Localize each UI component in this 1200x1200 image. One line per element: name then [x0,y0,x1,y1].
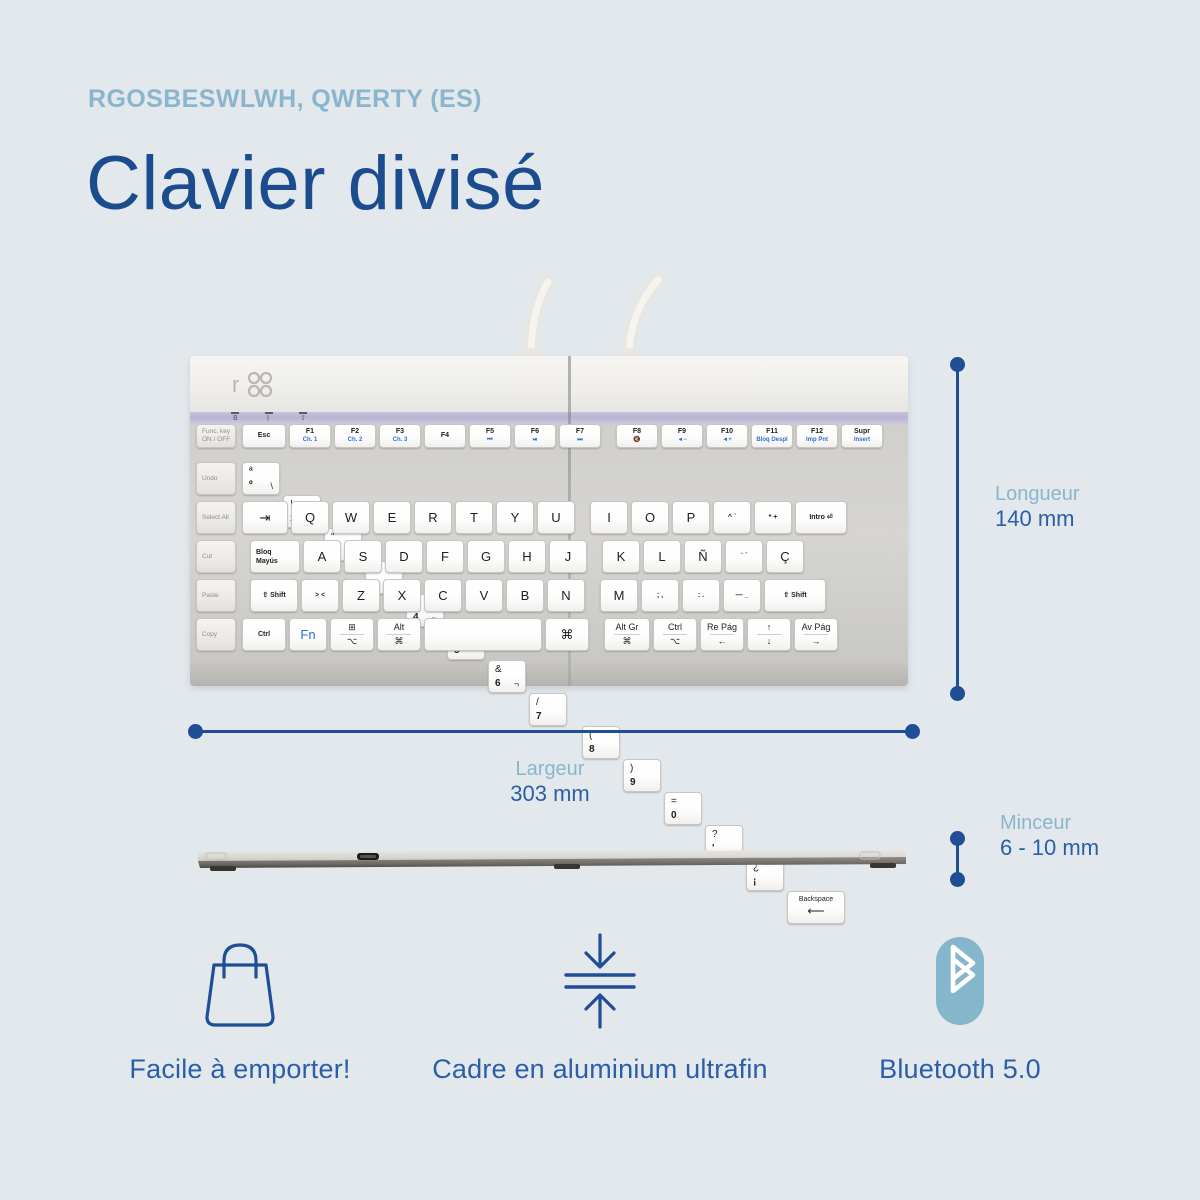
dim-line-width [194,730,912,733]
caps-lock-key[interactable]: BloqMayús [250,540,300,573]
letter-key[interactable]: A [303,540,341,573]
feature-portable-label: Facile à emporter! [129,1051,350,1087]
function-key[interactable]: F6⏯ [514,424,556,448]
feature-row: Facile à emporter! Cadre en aluminium ul… [60,925,1140,1145]
macro-key[interactable]: Cut [196,540,236,573]
letter-key[interactable]: X [383,579,421,612]
letter-key[interactable]: C [424,579,462,612]
letter-key[interactable]: U [537,501,575,534]
letter-key[interactable]: Q [291,501,329,534]
fn-key[interactable]: Fn [289,618,327,651]
feature-bluetooth: Bluetooth 5.0 [780,925,1140,1145]
ctrl-key[interactable]: Ctrl [242,618,286,651]
dim-dot-bottom [950,686,965,701]
shift-key[interactable]: ⇧ Shift [764,579,826,612]
command-key[interactable]: ⌘ [545,618,589,651]
letter-key[interactable]: J [549,540,587,573]
keyboard-top-view: r B ᛒ ⇧ Func. keyON / OFFUndoSelect AllC… [190,356,908,686]
number-key[interactable]: &6¬ [488,660,526,693]
product-sku: RGOSBESWLWH, QWERTY (ES) [88,85,482,114]
letter-key[interactable]: Ç [766,540,804,573]
space-key[interactable] [424,618,542,651]
usb-cables [0,270,1200,370]
macro-key[interactable]: Select All [196,501,236,534]
keyboard-side-view [192,838,910,874]
function-key[interactable]: F4 [424,424,466,448]
letter-key[interactable]: W [332,501,370,534]
shift-key[interactable]: ⇧ Shift [250,579,298,612]
letter-key[interactable]: R [414,501,452,534]
dim-dot-right [905,724,920,739]
width-caption: Largeur [450,758,650,781]
dim-dot-thin-bottom [950,872,965,887]
function-key[interactable]: F3Ch. 3 [379,424,421,448]
thickness-value: 6 - 10 mm [1000,835,1190,861]
letter-key[interactable]: Z [342,579,380,612]
windows-key[interactable]: ⊞⌥ [330,618,374,651]
function-key[interactable]: F11Bloq Despl [751,424,793,448]
r-go-logo: r [232,370,296,400]
function-key[interactable]: F9◄− [661,424,703,448]
length-value: 140 mm [995,506,1175,532]
letter-key[interactable]: S [344,540,382,573]
letter-key[interactable]: > < [301,579,339,612]
letter-key[interactable]: D [385,540,423,573]
ctrl-key[interactable]: Ctrl⌥ [653,618,697,651]
letter-key[interactable]: P [672,501,710,534]
letter-key[interactable]: E [373,501,411,534]
letter-key[interactable]: * + [754,501,792,534]
backspace-key[interactable]: Backspace⟵ [787,891,845,924]
letter-key[interactable]: ¨ ´ [725,540,763,573]
keyboard-top-plate [190,356,908,412]
arrow-up-key[interactable]: ↑↓ [747,618,791,651]
letter-key[interactable]: ; , [641,579,679,612]
product-infographic: RGOSBESWLWH, QWERTY (ES) Clavier divisé … [0,0,1200,1200]
function-key[interactable]: F2Ch. 2 [334,424,376,448]
letter-key[interactable]: ^ ` [713,501,751,534]
letter-key[interactable]: G [467,540,505,573]
page-down-key[interactable]: Av Pág→ [794,618,838,651]
bluetooth-icon [904,925,1016,1037]
svg-text:r: r [232,372,239,397]
number-key[interactable]: ªº\ [242,462,280,495]
feature-bluetooth-label: Bluetooth 5.0 [879,1051,1041,1087]
letter-key[interactable]: I [590,501,628,534]
letter-key[interactable]: L [643,540,681,573]
letter-key[interactable]: T [455,501,493,534]
number-key[interactable]: /7 [529,693,567,726]
feature-thin-frame-label: Cadre en aluminium ultrafin [432,1051,768,1087]
letter-key[interactable]: V [465,579,503,612]
dim-line-length [956,362,959,692]
shopping-bag-icon [184,925,296,1037]
bluetooth-indicator: ᛒ [266,413,270,423]
number-key[interactable]: =0 [664,792,702,825]
letter-key[interactable]: Ñ [684,540,722,573]
macro-key[interactable]: Func. keyON / OFF [196,424,236,448]
letter-key[interactable]: N [547,579,585,612]
letter-key[interactable]: O [631,501,669,534]
status-indicators: B ᛒ ⇧ [190,412,908,424]
function-key[interactable]: SuprInsert [841,424,883,448]
letter-key[interactable]: B [506,579,544,612]
function-key[interactable]: F7⏭ [559,424,601,448]
letter-key[interactable]: Y [496,501,534,534]
feature-portable: Facile à emporter! [60,925,420,1145]
feature-thin-frame: Cadre en aluminium ultrafin [420,925,780,1145]
letter-key[interactable]: — _ [723,579,761,612]
letter-key[interactable]: M [600,579,638,612]
macro-key[interactable]: Paste [196,579,236,612]
length-caption: Longueur [995,483,1175,506]
macro-key[interactable]: Undo [196,462,236,495]
letter-key[interactable]: : . [682,579,720,612]
function-key[interactable]: F12Imp Pnt [796,424,838,448]
function-key[interactable]: F1Ch. 1 [289,424,331,448]
page-up-key[interactable]: Re Pág← [700,618,744,651]
function-key[interactable]: F8🔇 [616,424,658,448]
letter-key[interactable]: H [508,540,546,573]
thickness-caption: Minceur [1000,812,1190,835]
function-key[interactable]: Esc [242,424,286,448]
width-value: 303 mm [450,781,650,807]
alt-key[interactable]: Alt⌘ [377,618,421,651]
function-key[interactable]: F10◄+ [706,424,748,448]
battery-indicator: B [233,413,238,423]
alt-gr-key[interactable]: Alt Gr⌘ [604,618,650,651]
letter-key[interactable]: F [426,540,464,573]
dim-line-thickness [956,836,959,876]
letter-key[interactable]: K [602,540,640,573]
tab-key[interactable]: ⇥ [242,501,288,534]
function-key[interactable]: F5⏮ [469,424,511,448]
enter-key[interactable]: Intro ⏎ [795,501,847,534]
thin-frame-arrows-icon [544,925,656,1037]
page-title: Clavier divisé [86,140,545,227]
macro-key[interactable]: Copy [196,618,236,651]
caps-lock-indicator: ⇧ [300,413,306,423]
key-area: Func. keyON / OFFUndoSelect AllCutPasteC… [190,424,908,686]
